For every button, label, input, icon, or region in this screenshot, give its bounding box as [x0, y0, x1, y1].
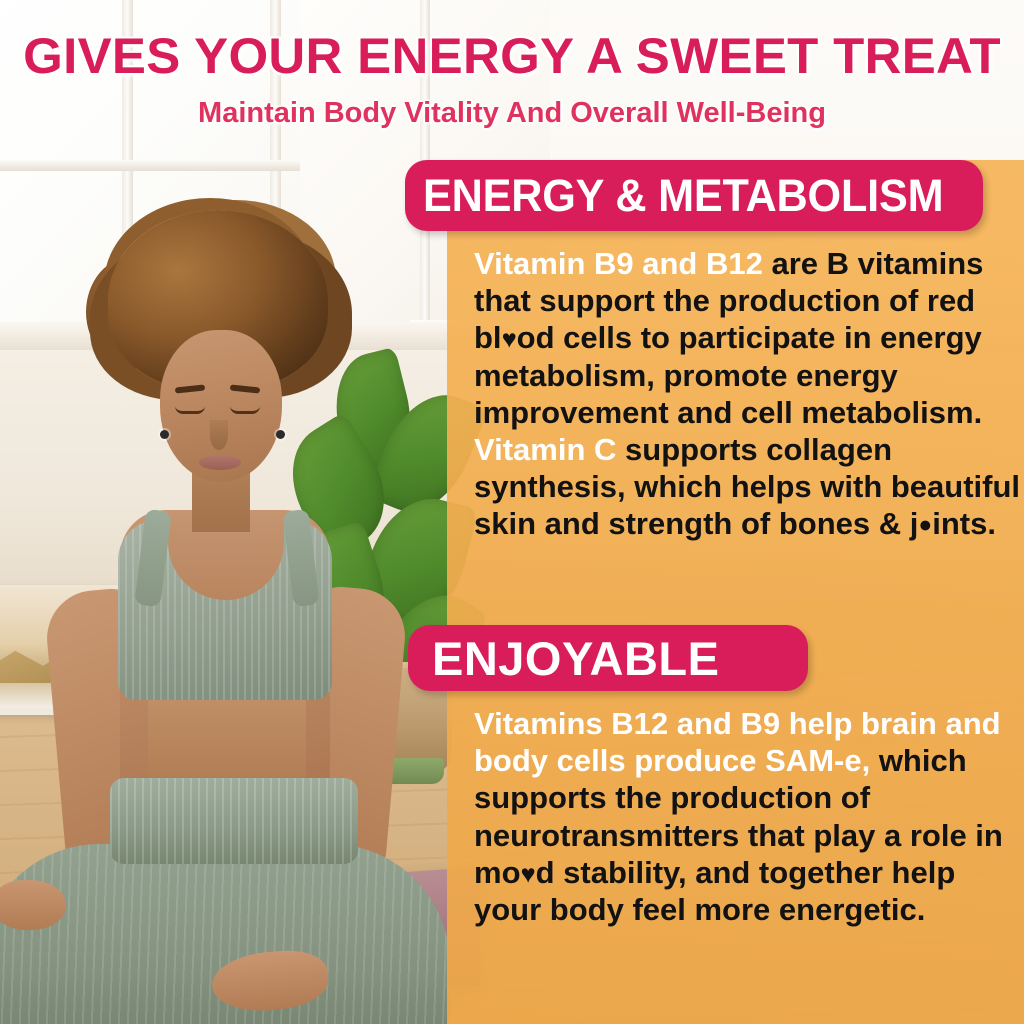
earring-left: [160, 430, 169, 439]
body-text-segment: ●: [918, 511, 932, 537]
section-body-energy-metabolism: Vitamin B9 and B12 are B vitamins that s…: [474, 245, 1024, 543]
section-body-enjoyable: Vitamins B12 and B9 help brain and body …: [474, 705, 1024, 928]
section-banner-enjoyable: ENJOYABLE: [408, 625, 808, 691]
section-banner-label: ENERGY & METABOLISM: [423, 170, 943, 222]
earring-right: [276, 430, 285, 439]
body-text-segment: d stability, and together help your body…: [474, 855, 955, 927]
closed-eye-left: [175, 406, 205, 414]
hand-left: [0, 880, 66, 930]
section-banner-label: ENJOYABLE: [432, 631, 719, 686]
body-text-segment: od cells to participate in energy metabo…: [474, 320, 982, 429]
body-text-segment: ♥: [502, 326, 517, 354]
closed-eye-right: [230, 406, 260, 414]
body-text-segment: ints.: [932, 506, 996, 541]
page-title: GIVES YOUR ENERGY A SWEET TREAT: [0, 27, 1024, 85]
poster-canvas: GIVES YOUR ENERGY A SWEET TREAT Maintain…: [0, 0, 1024, 1024]
lips: [199, 455, 241, 470]
body-text-segment: ♥: [521, 860, 536, 888]
page-subtitle: Maintain Body Vitality And Overall Well-…: [0, 97, 1024, 130]
midriff: [148, 692, 306, 788]
body-text-segment: Vitamin C: [474, 432, 616, 467]
leggings-waistband: [110, 778, 358, 864]
nose: [210, 420, 228, 450]
section-banner-energy-metabolism: ENERGY & METABOLISM: [405, 160, 983, 231]
meditating-woman: [0, 180, 440, 1024]
body-text-segment: Vitamin B9 and B12: [474, 246, 763, 281]
